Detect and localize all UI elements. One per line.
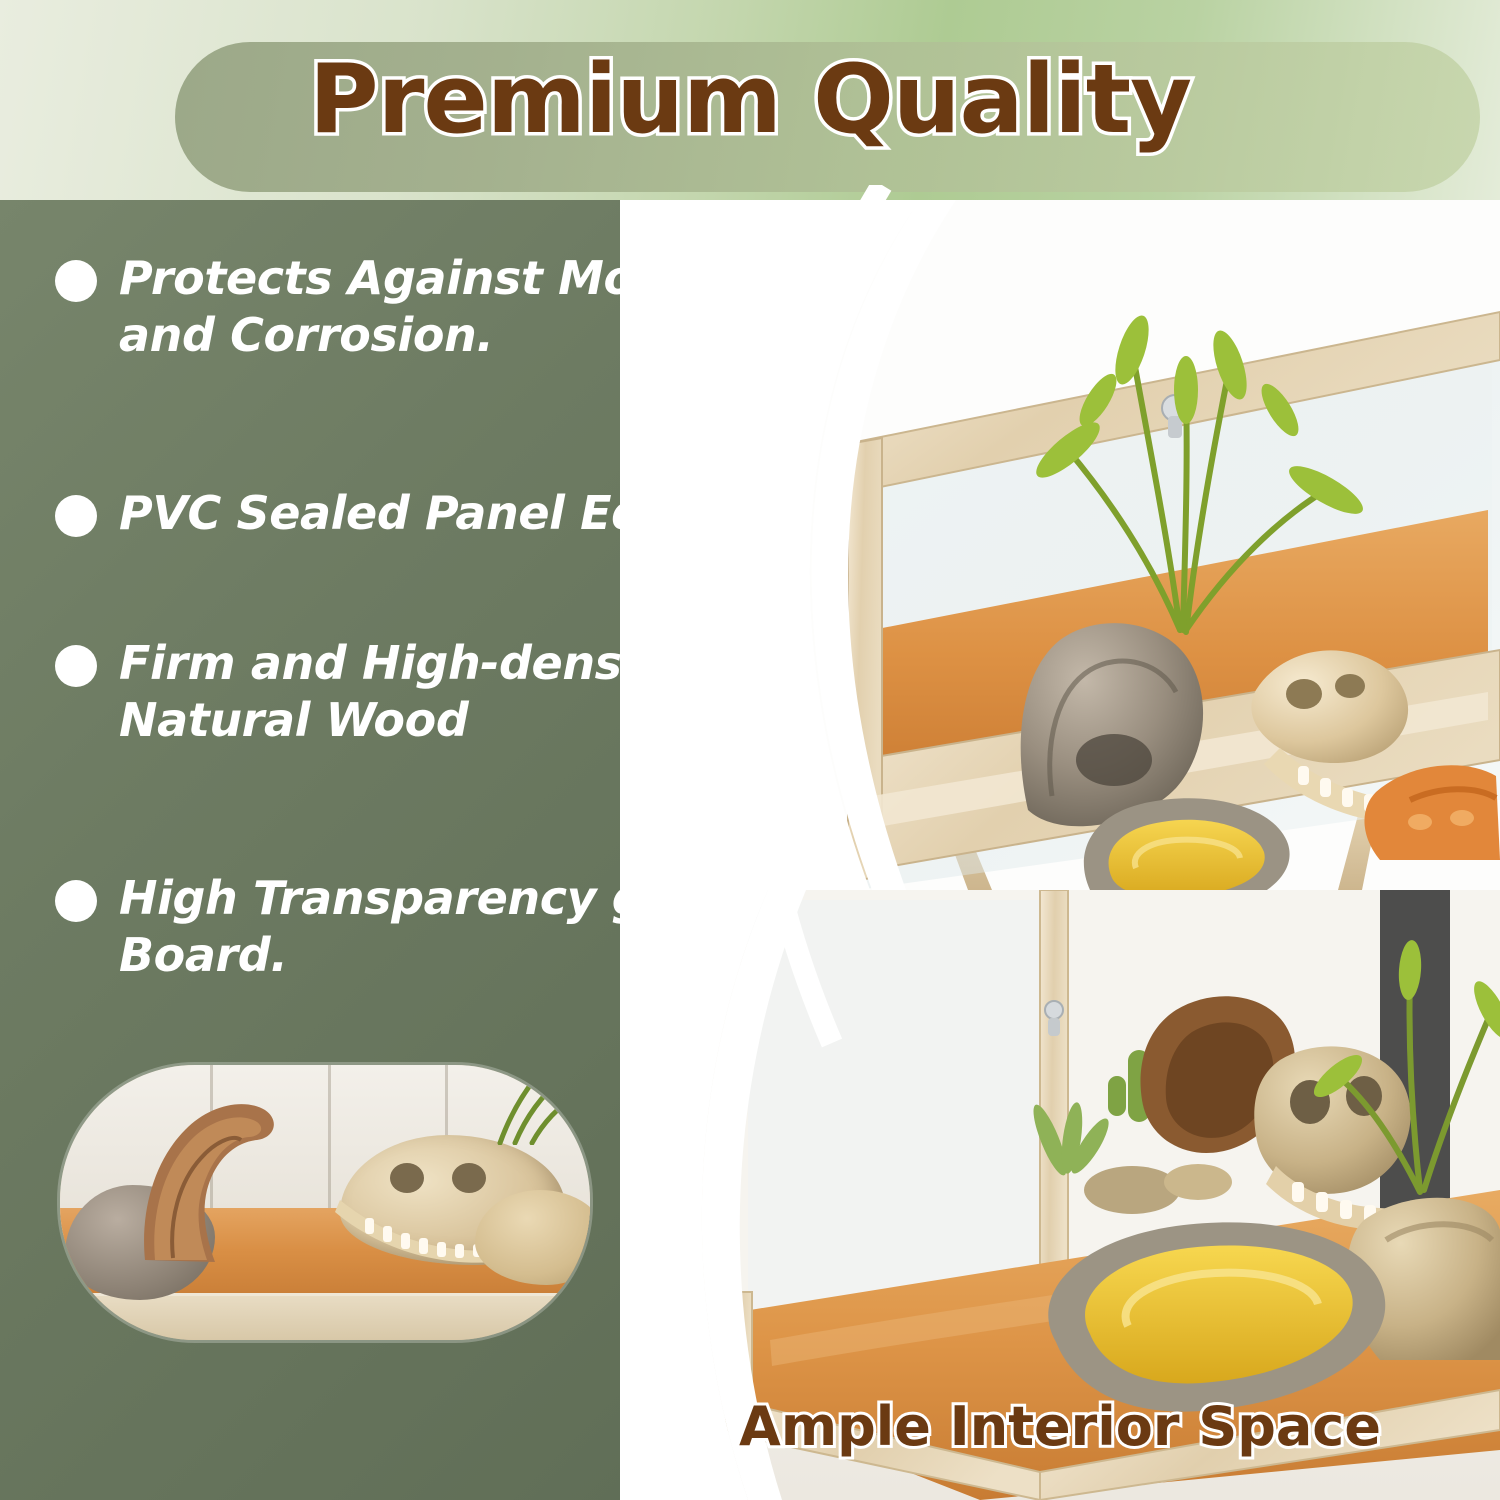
inset-plant-decor: [480, 1065, 590, 1145]
bullet-dot-icon: [55, 260, 97, 302]
bullet-dot-icon: [55, 880, 97, 922]
product-infographic: Premium Quality Protects Against Moistur…: [0, 0, 1500, 1500]
inset-driftwood-decor: [115, 1090, 305, 1265]
photo-caption: Ample Interior Space: [620, 1395, 1500, 1458]
inset-detail-photo: [60, 1065, 590, 1340]
product-photo-column: [620, 200, 1500, 1500]
inset-skull-eye: [390, 1163, 424, 1193]
bullet-dot-icon: [55, 645, 97, 687]
product-photo-top: [620, 200, 1500, 890]
inset-wood-floor: [60, 1293, 590, 1340]
bullet-dot-icon: [55, 495, 97, 537]
inset-skull-eye: [452, 1163, 486, 1193]
page-title: Premium Quality: [0, 45, 1500, 155]
banner-header: Premium Quality: [0, 0, 1500, 200]
terrarium-top-illustration: [620, 200, 1500, 890]
